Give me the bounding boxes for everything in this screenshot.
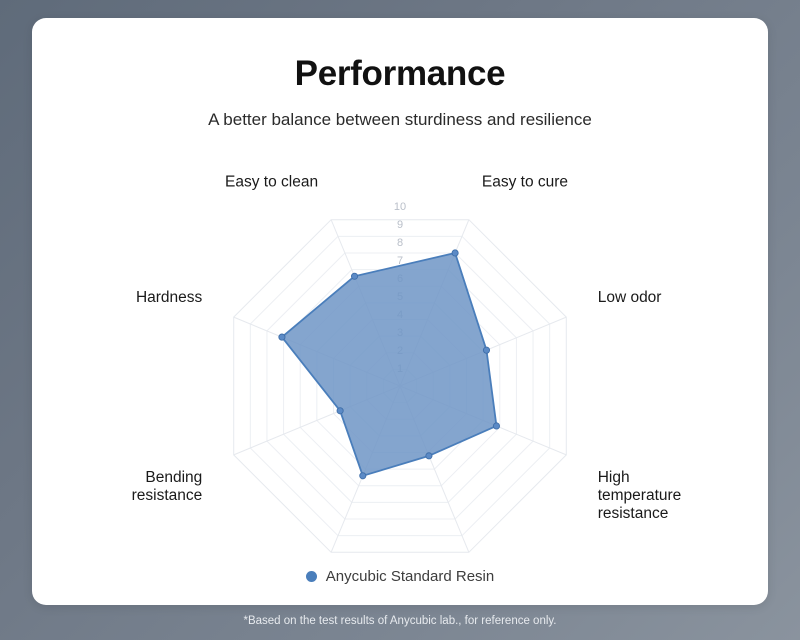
chart-legend: Anycubic Standard Resin <box>32 568 768 585</box>
radar-data-point[interactable] <box>337 408 343 414</box>
radar-data-point[interactable] <box>483 347 489 353</box>
radar-axis-label: Easy to cure <box>482 173 568 190</box>
radar-axis-label: Hightemperatureresistance <box>598 469 682 522</box>
radar-data-point[interactable] <box>279 334 285 340</box>
page-title: Performance <box>32 54 768 94</box>
radar-chart-svg: 12345678910 Easy to cureLow odorHightemp… <box>32 136 768 576</box>
footnote-text: *Based on the test results of Anycubic l… <box>0 615 800 627</box>
radial-tick-label: 9 <box>397 219 403 231</box>
radar-data-point[interactable] <box>452 250 458 256</box>
radar-axis-label: Hardness <box>136 289 203 306</box>
radar-data-point[interactable] <box>426 453 432 459</box>
radial-tick-label: 8 <box>397 237 403 249</box>
legend-item-label[interactable]: Anycubic Standard Resin <box>326 568 494 585</box>
legend-marker-icon <box>306 571 317 582</box>
radar-data-point[interactable] <box>493 423 499 429</box>
radar-data-point[interactable] <box>360 473 366 479</box>
radar-series-polygon <box>282 253 497 476</box>
chart-card: Performance A better balance between stu… <box>32 18 768 605</box>
radar-axis-label: Easy to clean <box>225 173 318 190</box>
page-root: Performance A better balance between stu… <box>0 0 800 640</box>
radar-data-point[interactable] <box>351 273 357 279</box>
radial-tick-label: 10 <box>394 201 406 213</box>
radar-axis-label: Low odor <box>598 289 662 306</box>
radar-series-area <box>282 253 497 476</box>
radar-axis-label: Bendingresistance <box>132 469 203 504</box>
chart-subtitle: A better balance between sturdiness and … <box>32 110 768 130</box>
radar-chart: 12345678910 Easy to cureLow odorHightemp… <box>32 136 768 576</box>
